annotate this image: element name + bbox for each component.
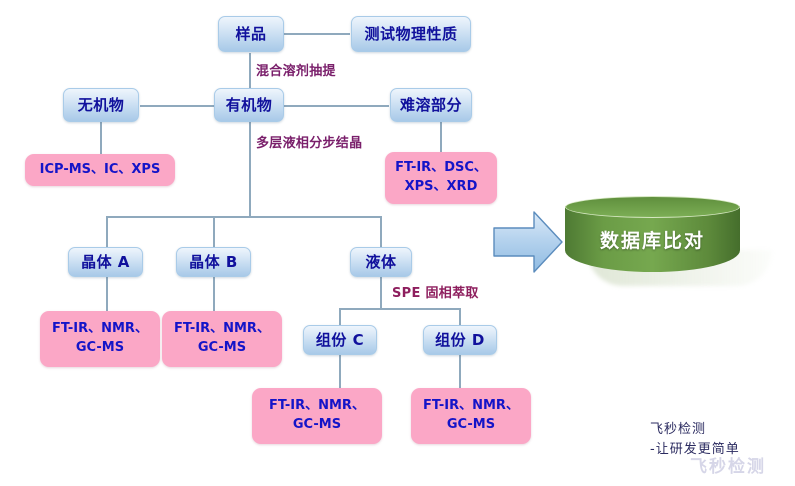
edge-label-crystallization: 多层液相分步结晶 <box>256 132 362 151</box>
node-crystal-a[interactable]: 晶体 A <box>68 247 143 277</box>
node-insoluble[interactable]: 难溶部分 <box>390 88 472 122</box>
connector-bus-to-liquid <box>380 216 382 247</box>
methods-insoluble[interactable]: FT-IR、DSC、 XPS、XRD <box>385 152 497 204</box>
connector-inorganic-to-methods <box>100 122 102 154</box>
methods-inorganic-label: ICP-MS、IC、XPS <box>40 161 161 180</box>
node-crystal-b-label: 晶体 B <box>189 253 238 271</box>
methods-fraction-c[interactable]: FT-IR、NMR、 GC-MS <box>252 388 382 444</box>
methods-fraction-d-line2: GC-MS <box>447 416 495 435</box>
connector-fraction-d-to-methods <box>459 355 461 388</box>
node-fraction-d-label: 组份 D <box>435 331 485 349</box>
connector-spe-to-fraction-c <box>339 308 341 325</box>
methods-fraction-d-line1: FT-IR、NMR、 <box>423 397 519 416</box>
connector-crystal-a-to-methods <box>106 277 108 311</box>
methods-crystal-b-line1: FT-IR、NMR、 <box>174 320 270 339</box>
methods-crystal-a-line2: GC-MS <box>76 339 124 358</box>
connector-sample-to-organic <box>249 53 251 90</box>
flowchart-canvas: 样品 测试物理性质 无机物 有机物 难溶部分 晶体 A 晶体 B 液体 组份 C… <box>0 0 795 486</box>
brand-line-1: 飞秒检测 <box>650 420 740 440</box>
database-cylinder[interactable]: 数据库比对 <box>565 196 740 286</box>
node-inorganic[interactable]: 无机物 <box>63 88 139 122</box>
node-fraction-c-label: 组份 C <box>316 331 364 349</box>
node-liquid-label: 液体 <box>365 253 396 271</box>
methods-fraction-c-line1: FT-IR、NMR、 <box>269 397 365 416</box>
node-organic-label: 有机物 <box>226 96 273 114</box>
methods-fraction-d[interactable]: FT-IR、NMR、 GC-MS <box>411 388 531 444</box>
methods-fraction-c-line2: GC-MS <box>293 416 341 435</box>
node-physical-test[interactable]: 测试物理性质 <box>351 16 471 52</box>
brand-watermark: 飞秒检测 <box>690 452 766 477</box>
methods-insoluble-line2: XPS、XRD <box>405 178 478 197</box>
connector-organic-down <box>249 122 251 217</box>
connector-spe-to-fraction-d <box>459 308 461 325</box>
node-sample[interactable]: 样品 <box>218 16 284 52</box>
connector-spe-bus <box>339 308 460 310</box>
methods-crystal-a[interactable]: FT-IR、NMR、 GC-MS <box>40 311 160 367</box>
methods-inorganic[interactable]: ICP-MS、IC、XPS <box>25 154 175 186</box>
node-inorganic-label: 无机物 <box>78 96 125 114</box>
node-fraction-d[interactable]: 组份 D <box>423 325 497 355</box>
node-physical-test-label: 测试物理性质 <box>364 25 457 43</box>
connector-organic-to-inorganic <box>140 105 214 107</box>
connector-bus-to-crystal-a <box>106 216 108 247</box>
connector-fraction-c-to-methods <box>339 355 341 388</box>
arrow-to-database <box>492 208 564 276</box>
node-crystal-b[interactable]: 晶体 B <box>176 247 251 277</box>
methods-crystal-b[interactable]: FT-IR、NMR、 GC-MS <box>162 311 282 367</box>
database-label: 数据库比对 <box>565 226 740 253</box>
right-arrow-icon <box>492 208 564 276</box>
methods-insoluble-line1: FT-IR、DSC、 <box>395 159 487 178</box>
node-sample-label: 样品 <box>235 25 266 43</box>
methods-crystal-b-line2: GC-MS <box>198 339 246 358</box>
connector-liquid-down <box>380 277 382 308</box>
connector-organic-to-insoluble <box>284 105 389 107</box>
node-organic[interactable]: 有机物 <box>214 88 284 122</box>
connector-crystal-b-to-methods <box>213 277 215 311</box>
methods-crystal-a-line1: FT-IR、NMR、 <box>52 320 148 339</box>
connector-split-bus <box>106 216 381 218</box>
node-fraction-c[interactable]: 组份 C <box>303 325 377 355</box>
node-liquid[interactable]: 液体 <box>350 247 412 277</box>
node-insoluble-label: 难溶部分 <box>400 96 462 114</box>
edge-label-extraction: 混合溶剂抽提 <box>256 60 336 79</box>
connector-bus-to-crystal-b <box>213 216 215 247</box>
node-crystal-a-label: 晶体 A <box>81 253 130 271</box>
edge-label-spe: SPE 固相萃取 <box>392 282 479 301</box>
connector-insoluble-to-methods <box>440 122 442 152</box>
connector-sample-to-physical-test <box>284 33 350 35</box>
cylinder-top-ellipse <box>565 196 740 218</box>
